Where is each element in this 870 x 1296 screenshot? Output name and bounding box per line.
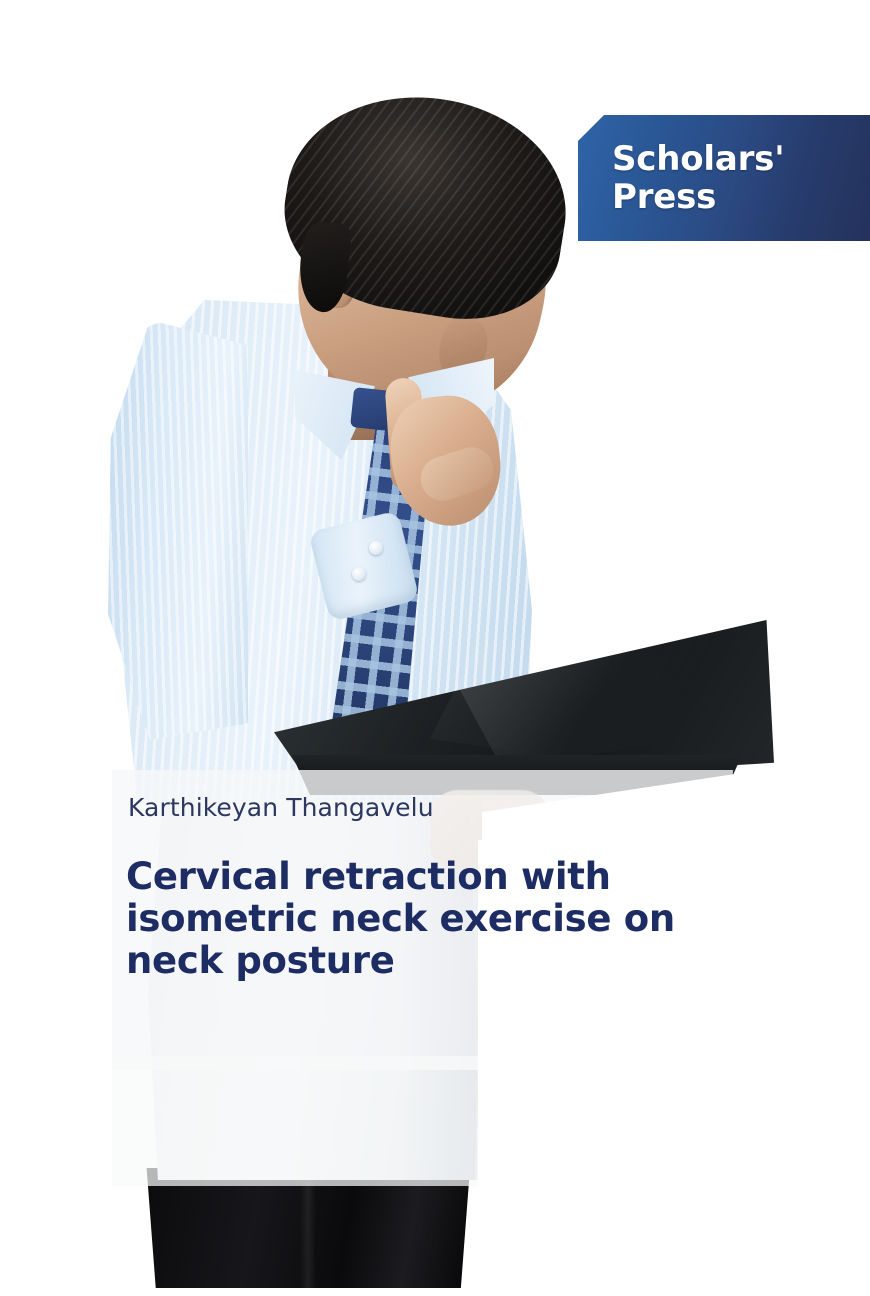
title-line-1: Cervical retraction with [126,855,611,898]
publisher-logo-text: Scholars' Press [612,140,784,216]
shirt-left-sleeve [108,320,248,740]
title-line-3: neck posture [126,939,395,982]
white-margin-bottom [0,1288,870,1296]
title-line-2: isometric neck exercise on [126,897,675,940]
cuff-button [369,541,383,555]
white-margin-left [0,770,112,1296]
book-title: Cervical retraction with isometric neck … [126,856,726,982]
cuff-button [352,567,366,581]
trouser-crease [300,1168,316,1296]
author-name: Karthikeyan Thangavelu [128,793,434,822]
book-cover: Scholars' Press Karthikeyan Thangavelu C… [0,0,870,1296]
